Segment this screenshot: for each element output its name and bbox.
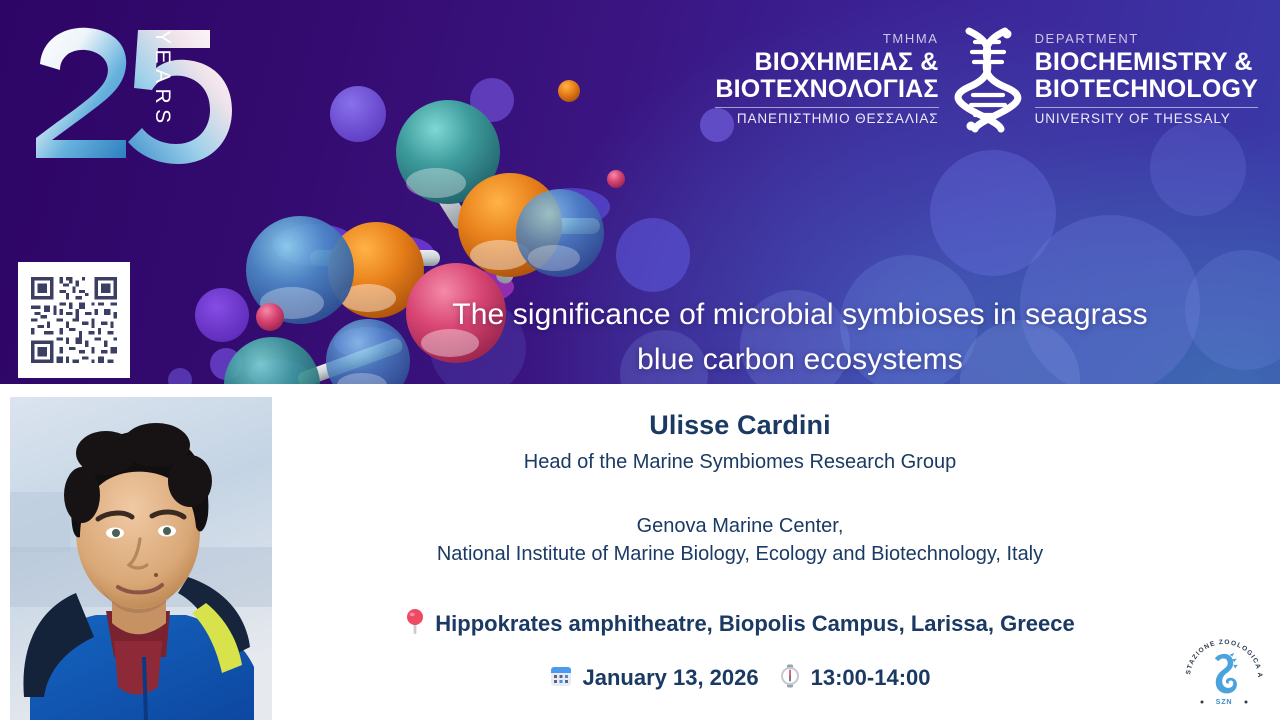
speaker-affiliation: Genova Marine Center, National Institute… [290,512,1190,569]
event-time-text: 13:00-14:00 [811,665,931,691]
event-datetime-row: January 13, 2026 13:00-14:00 [290,664,1190,692]
department-english-university: UNIVERSITY OF THESSALY [1035,107,1258,126]
szn-abbr: SZN [1216,697,1233,706]
speaker-info: Ulisse Cardini Head of the Marine Symbio… [290,384,1190,692]
bokeh-circle [1150,120,1246,216]
content-area: Ulisse Cardini Head of the Marine Symbio… [0,384,1280,720]
department-english-name-1: BIOCHEMISTRY & [1035,49,1258,76]
speaker-role: Head of the Marine Symbiomes Research Gr… [290,451,1190,474]
speaker-name: Ulisse Cardini [290,410,1190,441]
event-location-text: Hippokrates amphitheatre, Biopolis Campu… [435,611,1074,637]
department-english-kicker: DEPARTMENT [1035,32,1258,45]
department-greek-name-1: ΒΙΟΧΗΜΕΙΑΣ & [715,49,938,76]
department-english-name-2: BIOTECHNOLOGY [1035,76,1258,103]
round-pushpin-icon [405,609,425,639]
event-location-row: Hippokrates amphitheatre, Biopolis Campu… [290,609,1190,639]
department-logo: ΤΜΗΜΑ ΒΙΟΧΗΜΕΙΑΣ & ΒΙΟΤΕΧΝΟΛΟΓΙΑΣ ΠΑΝΕΠΙ… [715,24,1258,134]
department-greek-name-2: ΒΙΟΤΕΧΝΟΛΟΓΙΑΣ [715,76,938,103]
department-greek-kicker: ΤΜΗΜΑ [715,32,938,45]
szn-logo: STAZIONE ZOOLOGICA ANTON DOHRN SZN [1176,632,1272,716]
qr-code[interactable] [18,262,130,378]
header-banner: YEARS ΤΜΗΜΑ ΒΙΟΧΗΜΕΙΑΣ & ΒΙΟΤΕΧΝΟΛΟΓΙΑΣ … [0,0,1280,384]
department-greek-university: ΠΑΝΕΠΙΣΤΗΜΙΟ ΘΕΣΣΑΛΙΑΣ [715,107,938,126]
anniversary-logo: YEARS [22,18,252,168]
seminar-title: The significance of microbial symbioses … [330,292,1270,382]
anniversary-years-label: YEARS [154,30,174,160]
watch-icon [778,664,802,692]
affiliation-line-2: National Institute of Marine Biology, Ec… [290,540,1190,568]
speaker-photo [10,397,272,720]
department-logo-english: DEPARTMENT BIOCHEMISTRY & BIOTECHNOLOGY … [1025,32,1258,126]
seminar-title-line-1: The significance of microbial symbioses … [330,292,1270,337]
calendar-icon [549,664,573,692]
department-logo-greek: ΤΜΗΜΑ ΒΙΟΧΗΜΕΙΑΣ & ΒΙΟΤΕΧΝΟΛΟΓΙΑΣ ΠΑΝΕΠΙ… [715,32,948,126]
bokeh-circle [930,150,1056,276]
affiliation-line-1: Genova Marine Center, [290,512,1190,540]
event-date-text: January 13, 2026 [582,665,758,691]
seminar-title-line-2: blue carbon ecosystems [330,337,1270,382]
dna-helix-icon [949,25,1025,133]
seminar-poster: YEARS ΤΜΗΜΑ ΒΙΟΧΗΜΕΙΑΣ & ΒΙΟΤΕΧΝΟΛΟΓΙΑΣ … [0,0,1280,720]
